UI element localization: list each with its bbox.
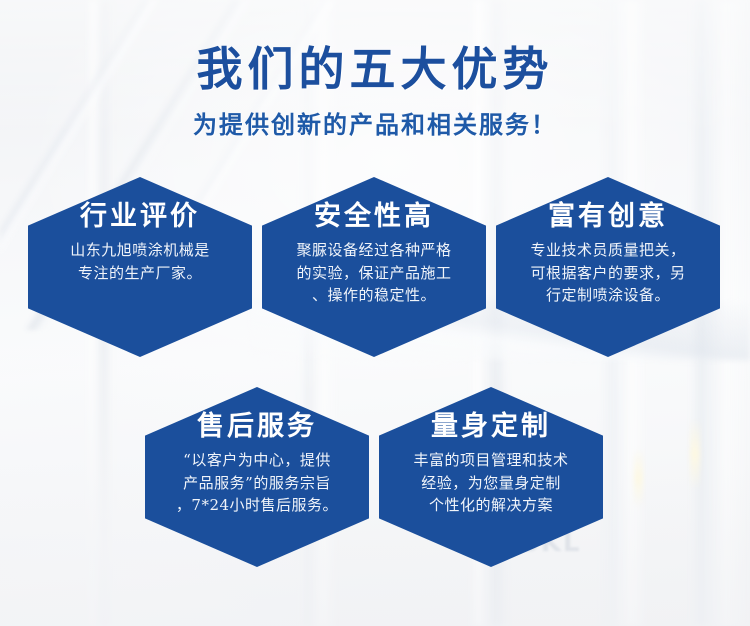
advantage-line: 个性化的解决方案 — [389, 494, 593, 517]
page-title: 我们的五大优势 — [0, 0, 750, 95]
advantage-body-2: 聚脲设备经过各种严格 的实验，保证产品施工 、操作的稳定性。 — [272, 230, 476, 307]
advantage-body-1: 山东九旭喷涂机械是 专注的生产厂家。 — [38, 230, 242, 284]
advantage-body-5: 丰富的项目管理和技术 经验，为您量身定制 个性化的解决方案 — [389, 440, 593, 517]
advantage-body-4: “以客户为中心，提供 产品服务”的服务宗旨 ，7*24小时售后服务。 — [155, 440, 359, 517]
advantage-body-3: 专业技术员质量把关， 可根据客户的要求，另 行定制喷涂设备。 — [506, 230, 710, 307]
header: 我们的五大优势 为提供创新的产品和相关服务！ — [0, 0, 750, 140]
advantage-line: 专业技术员质量把关， — [506, 239, 710, 262]
advantage-line: 丰富的项目管理和技术 — [389, 449, 593, 472]
advantage-line: “以客户为中心，提供 — [155, 449, 359, 472]
advantage-line: 经验，为您量身定制 — [389, 472, 593, 495]
advantage-line: 聚脲设备经过各种严格 — [272, 239, 476, 262]
advantage-line: 专注的生产厂家。 — [38, 262, 242, 285]
advantage-line: 可根据客户的要求，另 — [506, 262, 710, 285]
advantage-line: 山东九旭喷涂机械是 — [38, 239, 242, 262]
advantage-line: 行定制喷涂设备。 — [506, 284, 710, 307]
advantage-line: 、操作的稳定性。 — [272, 284, 476, 307]
promo-banner: SKL 我们的五大优势 为提供创新的产品和相关服务！ 行业评价 山东九旭喷涂机械… — [0, 0, 750, 626]
page-subtitle: 为提供创新的产品和相关服务！ — [0, 105, 750, 140]
advantage-line: 的实验，保证产品施工 — [272, 262, 476, 285]
advantage-line: ，7*24小时售后服务。 — [155, 494, 359, 517]
advantage-line: 产品服务”的服务宗旨 — [155, 472, 359, 495]
